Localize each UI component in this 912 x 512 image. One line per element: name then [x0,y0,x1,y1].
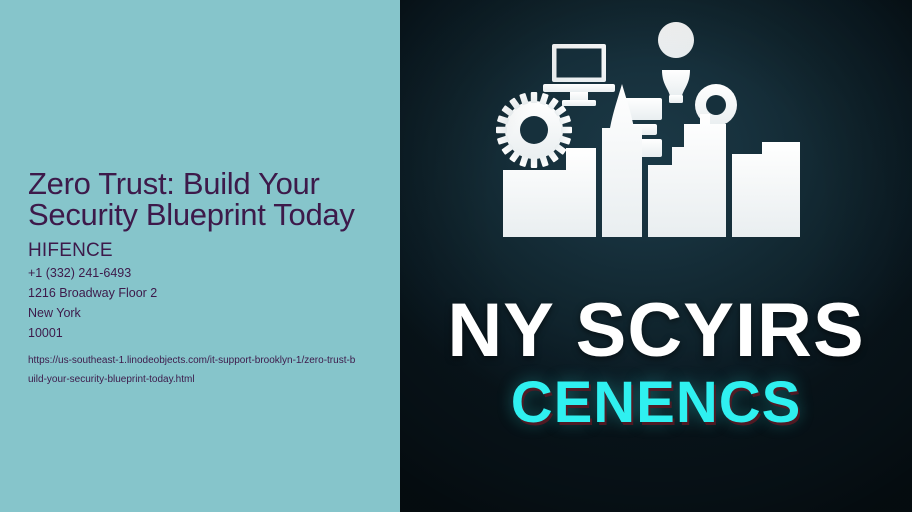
brand-name: HIFENCE [28,241,373,261]
contact-address-zip: 10001 [28,326,373,341]
left-info-panel: Zero Trust: Build Your Security Blueprin… [0,0,400,512]
source-url[interactable]: https://us-southeast-1.linodeobjects.com… [28,351,358,389]
right-image-panel: NY SCYIRS CENENCS [400,0,912,512]
antenna-tower [648,114,726,237]
contact-phone: +1 (332) 241-6493 [28,266,373,281]
lightbulb-icon [658,22,694,103]
laptop-icon [543,44,615,106]
stepped-building [503,148,596,237]
left-content-block: Zero Trust: Build Your Security Blueprin… [28,168,373,389]
contact-address-city: New York [28,306,373,321]
gear-icon [496,92,572,168]
flat-building [732,142,800,237]
page-root: Zero Trust: Build Your Security Blueprin… [0,0,912,512]
skyline-artwork [400,0,912,512]
page-title: Zero Trust: Build Your Security Blueprin… [28,168,373,230]
contact-address-street: 1216 Broadway Floor 2 [28,286,373,301]
